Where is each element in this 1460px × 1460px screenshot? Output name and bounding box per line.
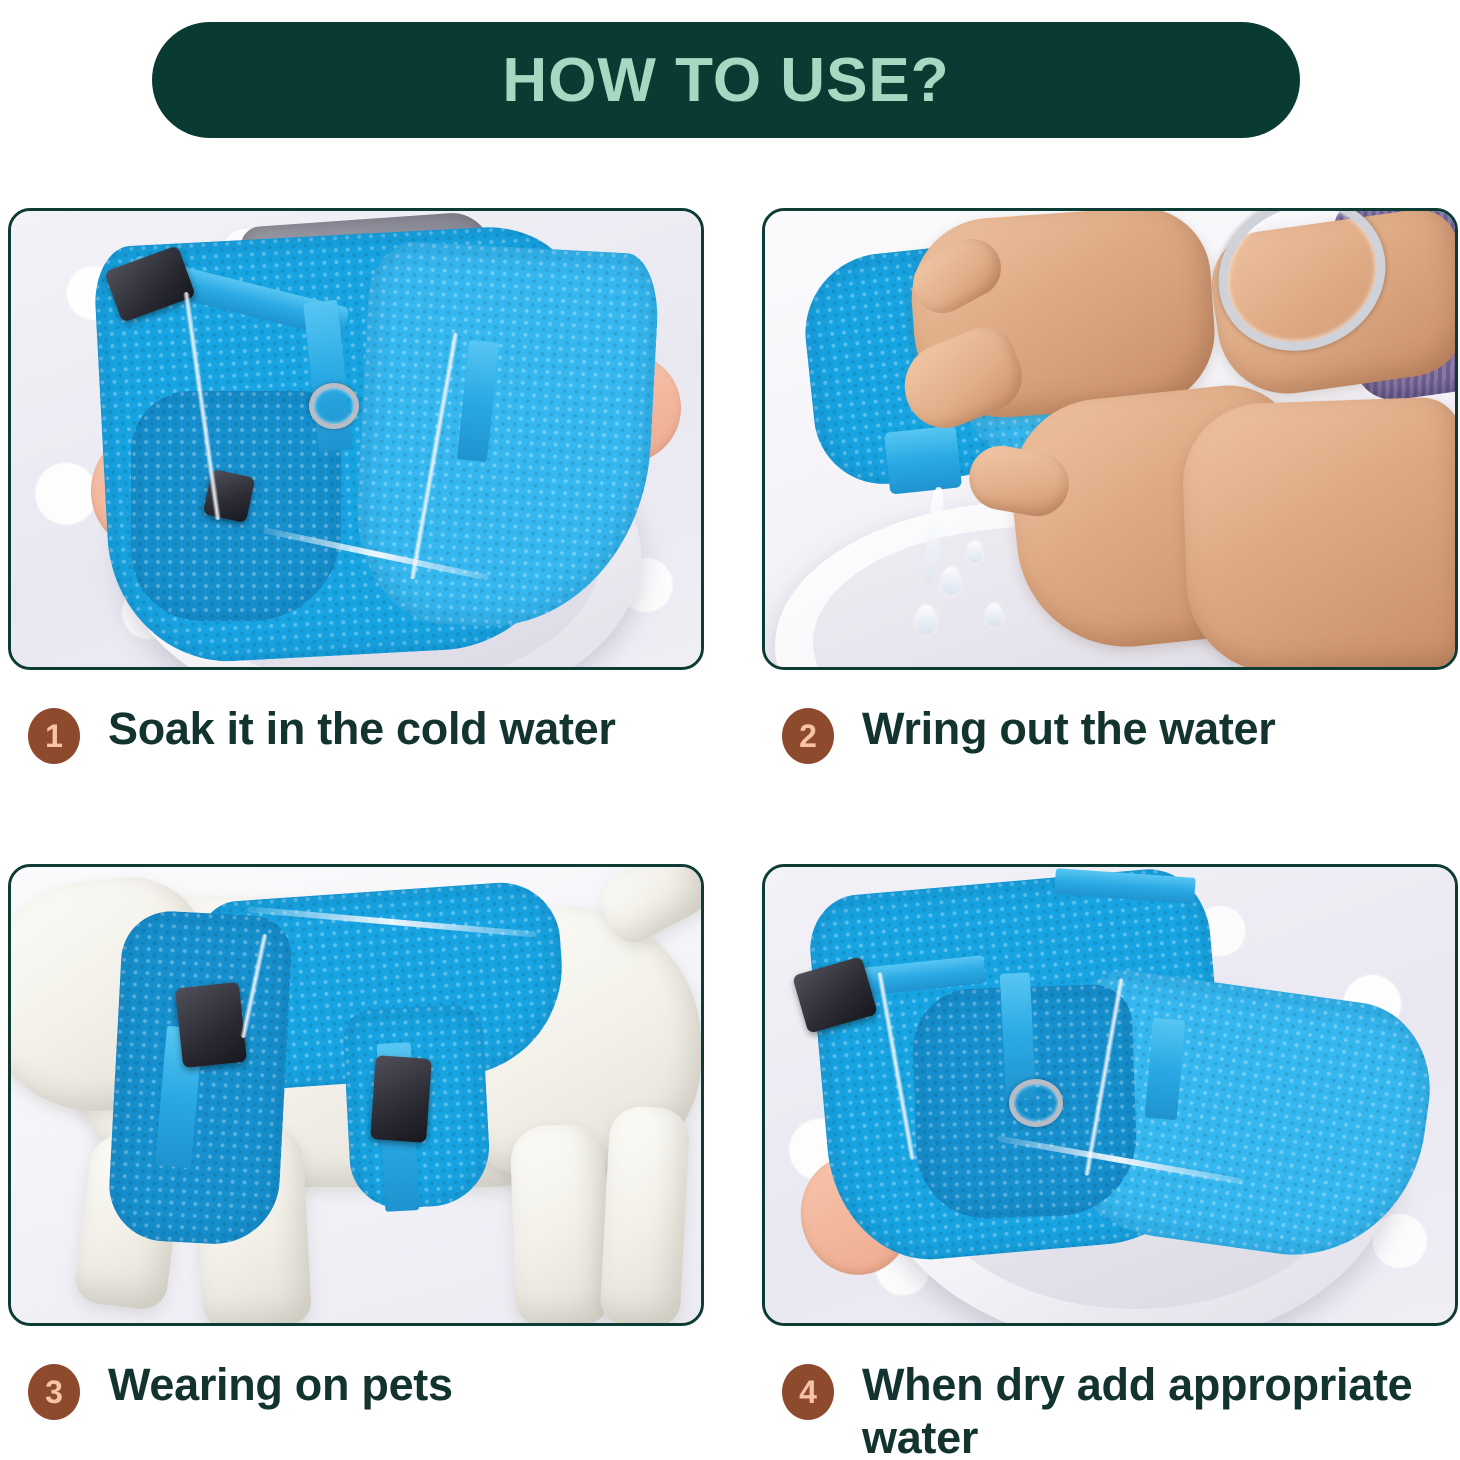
harness-d-ring-2: [1009, 1079, 1063, 1127]
step-caption-4: When dry add appropriate water: [862, 1358, 1458, 1460]
hanging-harness-strap: [884, 425, 962, 494]
water-drop-1: [941, 567, 961, 595]
water-drop-3: [915, 605, 937, 635]
worn-harness-buckle-rear: [370, 1055, 432, 1143]
steps-grid: 1 Soak it in the cold water: [8, 208, 1454, 1448]
dog-hind-leg-right: [599, 1105, 690, 1326]
header-banner: HOW TO USE?: [152, 22, 1300, 138]
step-card-2: 2 Wring out the water: [762, 208, 1458, 764]
step-number-badge-4: 4: [782, 1364, 834, 1420]
caption-row-1: 1 Soak it in the cold water: [8, 702, 704, 764]
harness-d-ring: [309, 383, 359, 429]
step-card-1: 1 Soak it in the cold water: [8, 208, 704, 764]
step-number-badge-3: 3: [28, 1364, 80, 1420]
caption-row-3: 3 Wearing on pets: [8, 1358, 704, 1420]
lower-forearm: [1180, 396, 1458, 670]
infographic-page: HOW TO USE?: [0, 0, 1460, 1460]
harness-soaking-in-basin-photo: [8, 208, 704, 670]
harness-in-basin-rewet-photo: [762, 864, 1458, 1326]
water-drop-4: [985, 603, 1003, 627]
page-title: HOW TO USE?: [502, 45, 949, 116]
step-card-4: 4 When dry add appropriate water: [762, 864, 1458, 1460]
step-number-badge-2: 2: [782, 708, 834, 764]
step-caption-1: Soak it in the cold water: [108, 702, 616, 755]
water-drop-2: [967, 541, 983, 563]
hands-wringing-harness-photo: [762, 208, 1458, 670]
worn-harness-shoulder-panel: [106, 909, 293, 1247]
step-caption-2: Wring out the water: [862, 702, 1275, 755]
worn-harness-buckle-front: [175, 982, 247, 1068]
caption-row-2: 2 Wring out the water: [762, 702, 1458, 764]
caption-row-4: 4 When dry add appropriate water: [762, 1358, 1458, 1460]
step-number-badge-1: 1: [28, 708, 80, 764]
step-caption-3: Wearing on pets: [108, 1358, 453, 1411]
dog-mannequin-wearing-harness-photo: [8, 864, 704, 1326]
step-card-3: 3 Wearing on pets: [8, 864, 704, 1420]
dog-hind-leg-left: [510, 1123, 611, 1326]
